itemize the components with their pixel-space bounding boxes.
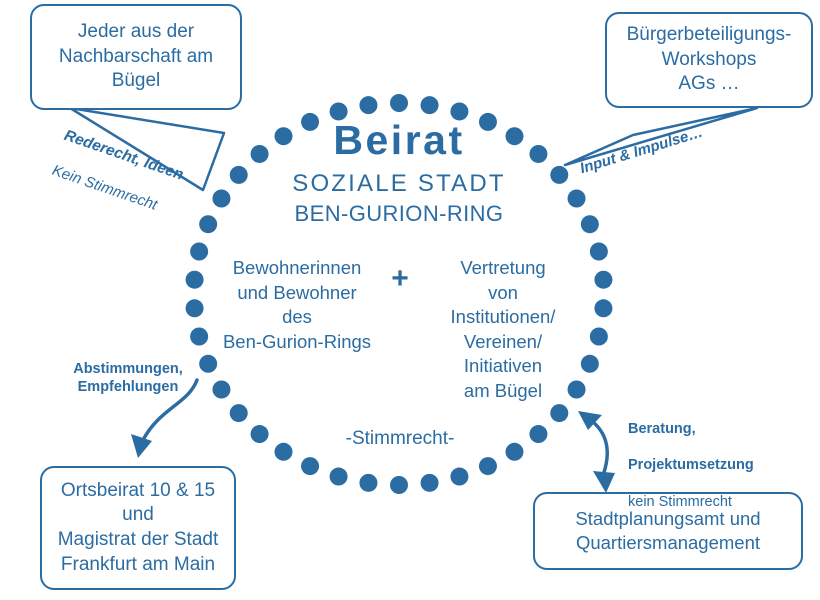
diagram-title: Beirat: [199, 120, 599, 161]
column-institutions: Vertretung von Institutionen/ Vereinen/ …: [417, 256, 589, 404]
label-beratung: Beratung, Projektumsetzung kein Stimmrec…: [628, 402, 803, 529]
box-ortsbeirat-label: Ortsbeirat 10 & 15 und Magistrat der Sta…: [50, 479, 227, 578]
box-workshops[interactable]: Bürgerbeteiligungs- Workshops AGs …: [605, 12, 813, 108]
center-title-block: Beirat SOZIALE STADT BEN-GURION-RING: [199, 120, 599, 227]
label-beratung-line3: kein Stimmrecht: [628, 493, 803, 511]
column-residents: Bewohnerinnen und Bewohner des Ben-Gurio…: [211, 256, 383, 354]
arrowhead-abstimmungen: [131, 434, 152, 458]
plus-icon: +: [383, 256, 417, 294]
label-beratung-line2: Projektumsetzung: [628, 456, 803, 474]
box-neighborhood[interactable]: Jeder aus der Nachbarschaft am Bügel: [30, 4, 242, 110]
voting-right-note: -Stimmrecht-: [200, 428, 600, 450]
arrowhead-beratung-down: [593, 471, 615, 493]
label-abstimmungen: Abstimmungen, Empfehlungen: [48, 360, 208, 396]
diagram-subtitle-program: SOZIALE STADT: [199, 170, 599, 198]
center-columns: Bewohnerinnen und Bewohner des Ben-Gurio…: [200, 256, 600, 404]
label-beratung-line1: Beratung,: [628, 420, 803, 438]
box-workshops-label: Bürgerbeteiligungs- Workshops AGs …: [619, 23, 800, 97]
box-neighborhood-label: Jeder aus der Nachbarschaft am Bügel: [51, 20, 221, 94]
box-ortsbeirat[interactable]: Ortsbeirat 10 & 15 und Magistrat der Sta…: [40, 466, 236, 590]
diagram-subtitle-location: BEN-GURION-RING: [199, 201, 599, 227]
diagram-canvas: Jeder aus der Nachbarschaft am Bügel Bür…: [0, 0, 820, 600]
